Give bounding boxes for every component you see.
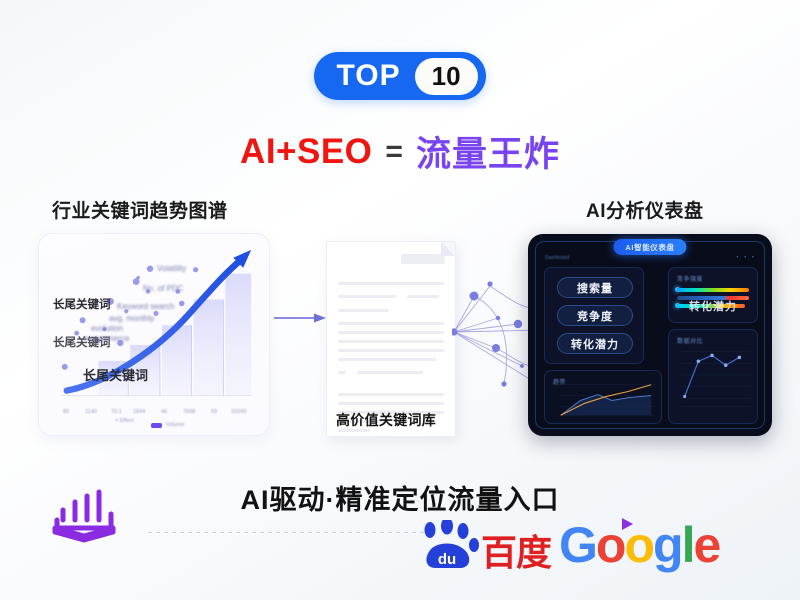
keyword-library-document: 高价值关键词库 <box>326 241 456 437</box>
legend-label: Volume <box>166 422 184 428</box>
metric-pill-search-volume[interactable]: 搜索量 <box>557 277 633 298</box>
title-traffic-phrase: 流量王炸 <box>416 126 560 177</box>
flow-arrow-icon <box>274 312 326 324</box>
bar-chart-pedestal-icon <box>45 484 123 546</box>
google-letter-g2: g <box>653 520 682 570</box>
document-label: 高价值关键词库 <box>336 410 436 430</box>
decorative-dashed-line <box>148 532 428 533</box>
badge-number: 10 <box>415 58 478 95</box>
legend-swatch-icon <box>151 423 162 428</box>
dashboard-metrics-panel: 搜索量 竞争度 转化潜力 <box>544 267 644 364</box>
left-section-caption: 行业关键词趋势图谱 <box>52 196 228 223</box>
blur-text-1: Volatility <box>157 264 186 273</box>
google-letter-l: l <box>682 520 694 570</box>
blur-text-6: e-commerce <box>85 334 129 343</box>
top-ten-badge: TOP 10 <box>314 52 485 100</box>
baidu-logo: du 百度 <box>418 520 551 570</box>
gradient-bar-1 <box>677 288 749 292</box>
dashboard-brand-label: Dashboard <box>545 255 569 261</box>
dashboard-comparison-panel: 数据对比 <box>668 329 758 424</box>
keyword-trend-card: 长尾关键词 长尾关键词 长尾关键词 Volatility No. of PDC … <box>38 233 270 436</box>
blur-text-5: evolution <box>91 324 123 333</box>
google-logo: G o o g l e <box>559 520 719 570</box>
dashboard-trend-panel: 趋势 <box>544 370 662 424</box>
axis-tick-7: 69 <box>211 409 217 415</box>
blur-text-4: avg. monthly <box>109 314 154 323</box>
axis-tick-5: 46 <box>161 409 167 415</box>
play-triangle-icon <box>622 518 633 530</box>
google-letter-e: e <box>693 520 719 570</box>
svg-text:du: du <box>438 551 456 568</box>
dashboard-title-badge: AI智能仪表盘 <box>613 239 686 255</box>
axis-tick-8: 10249 <box>231 409 246 415</box>
google-letter-o1: o <box>596 520 625 570</box>
document-header-chip <box>401 254 445 264</box>
dashboard-line-chart <box>669 330 757 423</box>
blur-text-2: No. of PDC <box>143 284 183 293</box>
search-engine-logos: du 百度 G o o g l e <box>418 520 719 570</box>
intensity-panel-title: 竞争强度 <box>677 274 703 283</box>
title-equals-sign: = <box>385 135 403 169</box>
dashboard-area-chart <box>545 371 661 424</box>
google-letter-g1: G <box>559 520 596 570</box>
dashboard-intensity-panel: 竞争强度 转化潜力 <box>668 267 758 323</box>
title-ai-seo: AI+SEO <box>240 132 372 172</box>
right-section-caption: AI分析仪表盘 <box>586 196 704 223</box>
ai-dashboard-panel: AI智能仪表盘 Dashboard • • • 搜索量 竞争度 转化潜力 趋势 … <box>528 234 772 436</box>
metric-pill-competition[interactable]: 竞争度 <box>557 305 633 326</box>
baidu-chinese-text: 百度 <box>481 536 551 570</box>
axis-tick-2: 1140 <box>85 409 97 415</box>
top-badge-container: TOP 10 <box>0 52 800 100</box>
blur-text-3: Keyword search <box>117 302 174 311</box>
trend-legend: Volume <box>151 422 184 428</box>
axis-tick-1: 80 <box>63 409 69 415</box>
conversion-overlay-text: 转化潜力 <box>669 298 757 314</box>
keyword-label-1: 长尾关键词 <box>53 296 111 312</box>
axis-tick-3: 70.1 <box>111 409 122 415</box>
dashboard-menu-icon[interactable]: • • • <box>736 255 756 261</box>
keyword-label-3: 长尾关键词 <box>83 365 148 384</box>
axis-subtitle: + Effect <box>115 418 134 424</box>
badge-top-label: TOP <box>336 61 414 91</box>
axis-tick-4: 1844 <box>133 409 145 415</box>
main-title: AI+SEO = 流量王炸 <box>0 126 800 177</box>
metric-pill-conversion[interactable]: 转化潜力 <box>557 333 633 354</box>
axis-tick-6: 7698 <box>183 409 195 415</box>
baidu-paw-icon: du <box>418 520 480 570</box>
